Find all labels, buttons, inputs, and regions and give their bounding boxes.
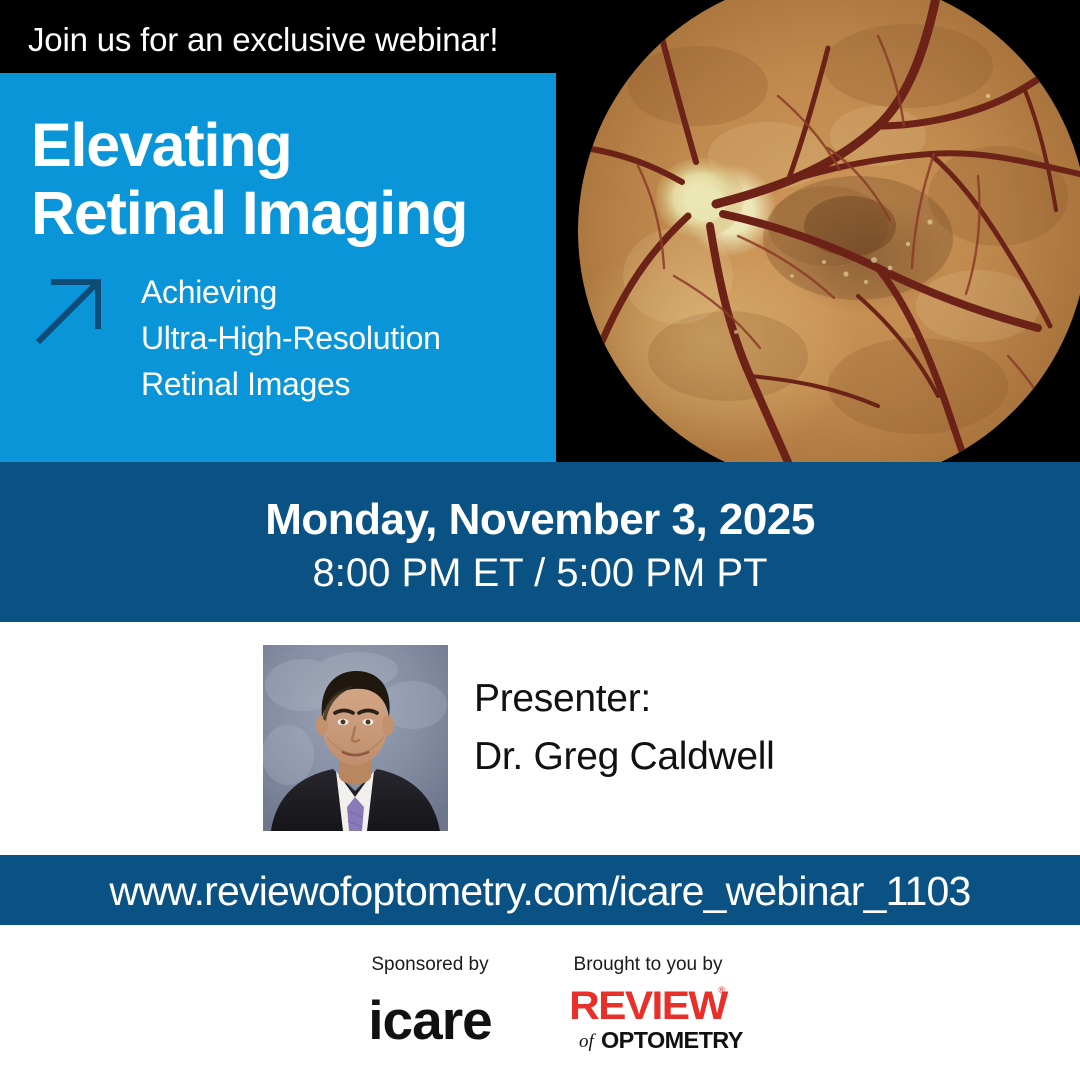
title-line-1: Elevating xyxy=(31,111,291,179)
title-panel: Elevating Retinal Imaging Achieving Ultr… xyxy=(0,73,556,462)
footer-logos: Sponsored by icare Brought to you by REV… xyxy=(0,925,1080,1080)
optometry-wordmark: OPTOMETRY xyxy=(601,1027,743,1053)
presenter-info: Presenter: Dr. Greg Caldwell xyxy=(474,670,1034,786)
eyebrow-text: Join us for an exclusive webinar! xyxy=(28,17,568,63)
subtitle-text: Achieving Ultra-High-Resolution Retinal … xyxy=(141,269,571,407)
presenter-headshot xyxy=(263,645,448,831)
subtitle-line-1: Achieving xyxy=(141,269,571,315)
icare-logo: icare xyxy=(368,991,491,1049)
subtitle-line-3: Retinal Images xyxy=(141,361,571,407)
arrow-up-right-icon xyxy=(34,274,106,346)
presenter-section: Presenter: Dr. Greg Caldwell xyxy=(0,622,1080,855)
registration-url-band[interactable]: www.reviewofoptometry.com/icare_webinar_… xyxy=(0,855,1080,925)
registration-url[interactable]: www.reviewofoptometry.com/icare_webinar_… xyxy=(0,867,1080,915)
retina-photo-container xyxy=(556,0,1080,462)
review-wordmark: REVIEW xyxy=(569,987,728,1025)
trademark-icon: ® xyxy=(718,986,725,995)
sponsor-column: Sponsored by icare xyxy=(330,953,530,1049)
brought-by-column: Brought to you by REVIEW ® of OPTOMETRY xyxy=(548,953,748,1052)
webinar-time: 8:00 PM ET / 5:00 PM PT xyxy=(0,548,1080,598)
brought-to-you-by-label: Brought to you by xyxy=(548,953,748,977)
sponsored-by-label: Sponsored by xyxy=(330,953,530,977)
webinar-date: Monday, November 3, 2025 xyxy=(0,494,1080,546)
title-line-2: Retinal Imaging xyxy=(31,179,551,247)
presenter-name: Dr. Greg Caldwell xyxy=(474,728,1034,786)
review-of-optometry-logo: REVIEW ® of OPTOMETRY xyxy=(573,987,723,1052)
presenter-label: Presenter: xyxy=(474,670,1034,728)
review-of-word: of xyxy=(579,1031,594,1053)
hero-section: Join us for an exclusive webinar! Elevat… xyxy=(0,0,1080,462)
date-band: Monday, November 3, 2025 8:00 PM ET / 5:… xyxy=(0,462,1080,622)
subtitle-line-2: Ultra-High-Resolution xyxy=(141,315,571,361)
retina-fundus-photo xyxy=(578,0,1080,462)
review-subline: of OPTOMETRY xyxy=(573,1026,723,1052)
webinar-promo-poster: Join us for an exclusive webinar! Elevat… xyxy=(0,0,1080,1080)
page-title: Elevating Retinal Imaging xyxy=(31,111,551,247)
